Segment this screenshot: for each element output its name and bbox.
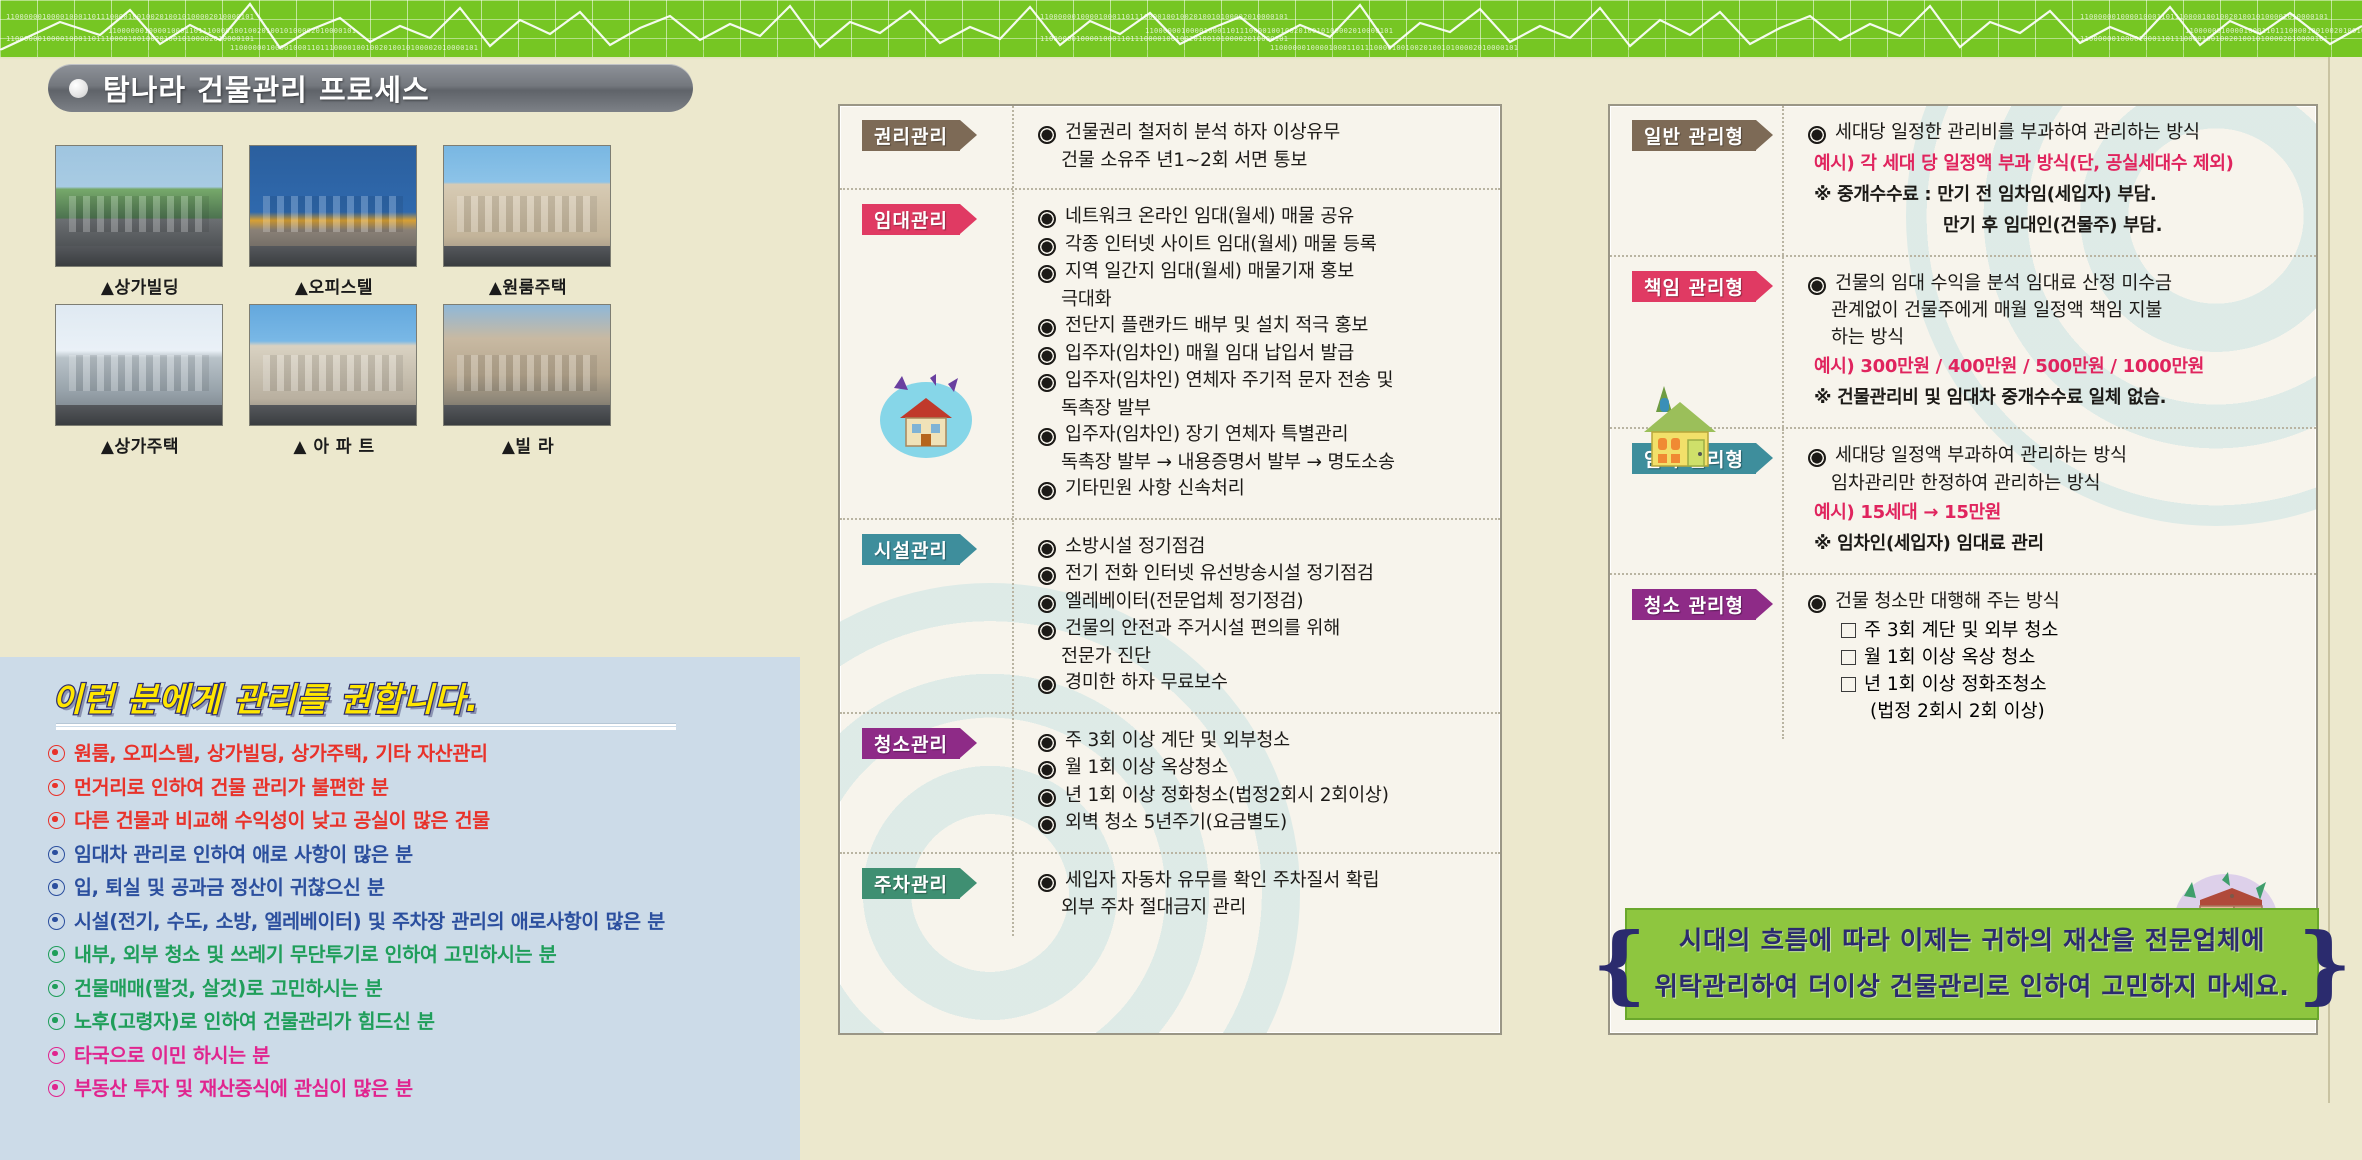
- bullet-line: 건물의 임대 수익을 분석 임대료 산정 미수금: [1808, 271, 2316, 298]
- header-binary-text: 1100000010000100011011100001001002010010…: [2080, 13, 2328, 21]
- bullet-line: 건물 청소만 대행해 주는 방식: [1808, 589, 2316, 616]
- recommendation-item-label: 먼거리로 인하여 건물 관리가 불편한 분: [74, 773, 389, 803]
- process-row: 시설관리소방시설 정기점검전기 전화 인터넷 유선방송시설 정기점검엘레베이터(…: [840, 518, 1500, 712]
- page-title: 탐나라 건물관리 프로세스: [103, 67, 430, 109]
- photo-caption: ▲상가주택: [55, 432, 225, 457]
- bullet-icon: [1038, 734, 1056, 752]
- bullet-line: 건물의 안전과 주거시설 편의를 위해: [1038, 616, 1500, 643]
- header-binary-text: 1100000010000100011011100001001002010010…: [6, 13, 254, 21]
- bullet-icon: [1038, 482, 1056, 500]
- bullet-icon: [48, 946, 65, 963]
- recommendation-item: 노후(고령자)로 인하여 건물관리가 힘드신 분: [48, 1007, 788, 1037]
- bullet-line: 외벽 청소 5년주기(요금별도): [1038, 810, 1500, 837]
- header-binary-text: 1100000010000100011011100001001002010010…: [1145, 27, 1393, 35]
- left-column: 탐나라 건물관리 프로세스 ▲상가빌딩 ▲오피스텔 ▲원룸주택 ▲상가주택: [0, 57, 800, 1103]
- divider: [56, 723, 676, 730]
- bullet-icon: [1038, 816, 1056, 834]
- management-types-card: 일반 관리형세대당 일정한 관리비를 부과하여 관리하는 방식예시) 각 세대 …: [1608, 104, 2318, 1035]
- bullet-line-label: 세대당 일정액 부과하여 관리하는 방식: [1835, 443, 2127, 470]
- process-row: 청소관리주 3회 이상 계단 및 외부청소월 1회 이상 옥상청소년 1회 이상…: [840, 712, 1500, 852]
- example-line: 예시) 각 세대 당 일정액 부과 방식(단, 공실세대수 제외): [1808, 148, 2316, 179]
- photo-caption: ▲오피스텔: [249, 273, 419, 298]
- bullet-line: 엘레베이터(전문업체 정기정검): [1038, 589, 1500, 616]
- bullet-icon: [1808, 595, 1826, 613]
- bullet-icon: [1038, 347, 1056, 365]
- bullet-line: 세대당 일정한 관리비를 부과하여 관리하는 방식: [1808, 120, 2316, 147]
- continuation-line: 건물 소유주 년1~2회 서면 통보: [1038, 148, 1500, 175]
- photo-cell: ▲원룸주택: [443, 145, 613, 298]
- bullet-line-label: 지역 일간지 임대(월세) 매물기재 홍보: [1065, 259, 1354, 286]
- bullet-icon: [1808, 449, 1826, 467]
- row-label-column: 주차관리: [840, 868, 1012, 922]
- bullet-line: 지역 일간지 임대(월세) 매물기재 홍보: [1038, 259, 1500, 286]
- row-label-column: 권리관리: [840, 120, 1012, 174]
- bullet-line-label: 건물 청소만 대행해 주는 방식: [1835, 589, 2060, 616]
- bullet-line-label: 입주자(임차인) 연체자 주기적 문자 전송 및: [1065, 368, 1393, 395]
- recommendation-item-label: 내부, 외부 청소 및 쓰레기 무단투기로 인하여 고민하시는 분: [74, 940, 556, 970]
- recommendation-panel: 이런 분에게 관리를 권합니다. 원룸, 오피스텔, 상가빌딩, 상가주택, 기…: [0, 657, 800, 1160]
- bullet-line: 전단지 플랜카드 배부 및 설치 적극 홍보: [1038, 313, 1500, 340]
- recommendation-item: 원룸, 오피스텔, 상가빌딩, 상가주택, 기타 자산관리: [48, 739, 788, 769]
- bullet-line: 년 1회 이상 정화청소(법정2회시 2회이상): [1038, 783, 1500, 810]
- photo-cell: ▲상가빌딩: [55, 145, 225, 298]
- row-body-column: 건물권리 철저히 분석 하자 이상유무건물 소유주 년1~2회 서면 통보: [1012, 120, 1500, 174]
- checkbox-icon[interactable]: [1841, 623, 1856, 638]
- photo-row: ▲상가주택 ▲ 아 파 트 ▲빌 라: [55, 304, 715, 457]
- bullet-line: 전기 전화 인터넷 유선방송시설 정기점검: [1038, 561, 1500, 588]
- photo-row: ▲상가빌딩 ▲오피스텔 ▲원룸주택: [55, 145, 715, 298]
- bullet-line-label: 세입자 자동차 유무를 확인 주차질서 확립: [1065, 868, 1379, 895]
- photo-studio-house: [443, 145, 611, 267]
- column-divider: [1782, 575, 1784, 739]
- banner-text: 시대의 흐름에 따라 이제는 귀하의 재산을 전문업체에 위탁관리하여 더이상 …: [1646, 918, 2297, 1010]
- house-illustration-icon: [878, 374, 974, 460]
- example-line: 예시) 300만원 / 400만원 / 500만원 / 1000만원: [1808, 351, 2316, 382]
- process-row: 청소 관리형건물 청소만 대행해 주는 방식주 3회 계단 및 외부 청소월 1…: [1610, 573, 2316, 739]
- photo-caption: ▲빌 라: [443, 432, 613, 457]
- column-divider: [1012, 714, 1014, 852]
- recommendation-item-label: 노후(고령자)로 인하여 건물관리가 힘드신 분: [74, 1007, 435, 1037]
- recommendation-item: 부동산 투자 및 재산증식에 관심이 많은 분: [48, 1074, 788, 1104]
- recommendation-item-label: 다른 건물과 비교해 수익성이 낮고 공실이 많은 건물: [74, 806, 490, 836]
- header-binary-text: 1100000010000100011011100001001002010010…: [108, 27, 356, 35]
- recommendation-item: 타국으로 이민 하시는 분: [48, 1041, 788, 1071]
- bullet-line-label: 네트워크 온라인 임대(월세) 매물 공유: [1065, 204, 1354, 231]
- banner-line-1: 시대의 흐름에 따라 이제는 귀하의 재산을 전문업체에: [1654, 918, 2289, 964]
- photo-gallery: ▲상가빌딩 ▲오피스텔 ▲원룸주택 ▲상가주택 ▲ 아 파 트 ▲빌: [55, 145, 715, 463]
- green-house-illustration-icon: [1638, 378, 1722, 470]
- bullet-icon: [48, 1080, 65, 1097]
- bullet-line-label: 소방시설 정기점검: [1065, 534, 1205, 561]
- bullet-line-label: 월 1회 이상 옥상청소: [1065, 755, 1228, 782]
- brace-left: {: [1592, 922, 1646, 1006]
- row-body-column: 네트워크 온라인 임대(월세) 매물 공유각종 인터넷 사이트 임대(월세) 매…: [1012, 204, 1500, 504]
- bullet-line: 네트워크 온라인 임대(월세) 매물 공유: [1038, 204, 1500, 231]
- checkbox-line[interactable]: 주 3회 계단 및 외부 청소: [1808, 617, 2316, 644]
- photo-officetel: [249, 145, 417, 267]
- bullet-icon: [48, 1013, 65, 1030]
- photo-villa: [443, 304, 611, 426]
- category-tag[interactable]: 책임 관리형: [1632, 271, 1756, 302]
- bullet-line: 세입자 자동차 유무를 확인 주차질서 확립: [1038, 868, 1500, 895]
- checkbox-line-label: 년 1회 이상 정화조청소: [1864, 671, 2047, 698]
- bullet-line: 세대당 일정액 부과하여 관리하는 방식: [1808, 443, 2316, 470]
- photo-commercial-building: [55, 145, 223, 267]
- bullet-icon: [48, 812, 65, 829]
- photo-caption: ▲원룸주택: [443, 273, 613, 298]
- row-label-column: 청소관리: [840, 728, 1012, 838]
- bullet-line-label: 입주자(임차인) 장기 연체자 특별관리: [1065, 422, 1348, 449]
- bullet-line: 주 3회 이상 계단 및 외부청소: [1038, 728, 1500, 755]
- row-body-column: 건물 청소만 대행해 주는 방식주 3회 계단 및 외부 청소월 1회 이상 옥…: [1782, 589, 2316, 725]
- bullet-icon: [48, 879, 65, 896]
- column-divider: [1782, 429, 1784, 573]
- continuation-line: 극대화: [1038, 287, 1500, 314]
- process-row: 일반 관리형세대당 일정한 관리비를 부과하여 관리하는 방식예시) 각 세대 …: [1610, 106, 2316, 255]
- recommendation-item-label: 타국으로 이민 하시는 분: [74, 1041, 270, 1071]
- header-binary-text: 1100000010000100011011100001001002010010…: [1040, 13, 1288, 21]
- section-title-pill: 탐나라 건물관리 프로세스: [48, 64, 693, 112]
- note-line: 만기 후 임대인(건물주) 부담.: [1808, 210, 2316, 241]
- recommendation-item: 건물매매(팔것, 살것)로 고민하시는 분: [48, 974, 788, 1004]
- header-binary-text: 1100000010000100011011100001001002010010…: [2185, 27, 2362, 35]
- process-row: 권리관리건물권리 철저히 분석 하자 이상유무건물 소유주 년1~2회 서면 통…: [840, 106, 1500, 188]
- column-divider: [1012, 190, 1014, 518]
- checkbox-line[interactable]: (법정 2회시 2회 이상): [1808, 698, 2316, 725]
- bullet-line-label: 전단지 플랜카드 배부 및 설치 적극 홍보: [1065, 313, 1368, 340]
- row-body-column: 세입자 자동차 유무를 확인 주차질서 확립외부 주차 절대금지 관리: [1012, 868, 1500, 922]
- bullet-line: 소방시설 정기점검: [1038, 534, 1500, 561]
- process-rows: 권리관리건물권리 철저히 분석 하자 이상유무건물 소유주 년1~2회 서면 통…: [840, 106, 1500, 936]
- bullet-icon: [1038, 761, 1056, 779]
- column-divider: [1012, 854, 1014, 936]
- bullet-icon: [1038, 126, 1056, 144]
- note-line: ※ 중개수수료 : 만기 전 임차임(세입자) 부담.: [1808, 179, 2316, 210]
- checkbox-icon[interactable]: [1841, 650, 1856, 665]
- category-tag[interactable]: 주차관리: [862, 868, 960, 899]
- recommendation-item-label: 입, 퇴실 및 공과금 정산이 귀찮으신 분: [74, 873, 385, 903]
- bullet-icon: [1038, 595, 1056, 613]
- bullet-line: 기타민원 사항 신속처리: [1038, 476, 1500, 503]
- header-binary-text: 1100000010000100011011100001001002010010…: [6, 35, 254, 43]
- row-body-column: 건물의 임대 수익을 분석 임대료 산정 미수금관계없이 건물주에게 매월 일정…: [1782, 271, 2316, 414]
- bullet-icon: [1038, 676, 1056, 694]
- checkbox-line-label: 월 1회 이상 옥상 청소: [1864, 644, 2035, 671]
- bullet-icon: [1038, 874, 1056, 892]
- bullet-icon: [48, 980, 65, 997]
- checkbox-line[interactable]: 년 1회 이상 정화조청소: [1808, 671, 2316, 698]
- continuation-line: 전문가 진단: [1038, 644, 1500, 671]
- recommendation-item-label: 건물매매(팔것, 살것)로 고민하시는 분: [74, 974, 382, 1004]
- recommendation-item-label: 임대차 관리로 인하여 애로 사항이 많은 분: [74, 840, 413, 870]
- checkbox-line-label: 주 3회 계단 및 외부 청소: [1864, 617, 2058, 644]
- bullet-line-label: 외벽 청소 5년주기(요금별도): [1065, 810, 1287, 837]
- category-tag[interactable]: 청소 관리형: [1632, 589, 1756, 620]
- row-label-column: 청소 관리형: [1610, 589, 1782, 725]
- checkbox-line[interactable]: 월 1회 이상 옥상 청소: [1808, 644, 2316, 671]
- bullet-line-label: 건물권리 철저히 분석 하자 이상유무: [1065, 120, 1340, 147]
- column-divider: [1012, 520, 1014, 712]
- row-body-column: 세대당 일정액 부과하여 관리하는 방식임차관리만 한정하여 관리하는 방식예시…: [1782, 443, 2316, 559]
- bullet-line: 건물권리 철저히 분석 하자 이상유무: [1038, 120, 1500, 147]
- row-body-column: 세대당 일정한 관리비를 부과하여 관리하는 방식예시) 각 세대 당 일정액 …: [1782, 120, 2316, 241]
- recommendation-item-label: 시설(전기, 수도, 소방, 엘레베이터) 및 주차장 관리의 애로사항이 많은…: [74, 907, 665, 937]
- bullet-icon: [48, 745, 65, 762]
- checkbox-icon[interactable]: [1841, 677, 1856, 692]
- process-row: 임대관리네트워크 온라인 임대(월세) 매물 공유각종 인터넷 사이트 임대(월…: [840, 188, 1500, 518]
- photo-caption: ▲상가빌딩: [55, 273, 225, 298]
- bullet-icon: [1038, 265, 1056, 283]
- bullet-line-label: 전기 전화 인터넷 유선방송시설 정기점검: [1065, 561, 1374, 588]
- photo-cell: ▲ 아 파 트: [249, 304, 419, 457]
- bullet-line: 각종 인터넷 사이트 임대(월세) 매물 등록: [1038, 232, 1500, 259]
- recommendation-item: 내부, 외부 청소 및 쓰레기 무단투기로 인하여 고민하시는 분: [48, 940, 788, 970]
- recommendation-item: 시설(전기, 수도, 소방, 엘레베이터) 및 주차장 관리의 애로사항이 많은…: [48, 907, 788, 937]
- recommendation-list: 원룸, 오피스텔, 상가빌딩, 상가주택, 기타 자산관리먼거리로 인하여 건물…: [48, 739, 788, 1108]
- process-row: 주차관리세입자 자동차 유무를 확인 주차질서 확립외부 주차 절대금지 관리: [840, 852, 1500, 936]
- banner-line-2: 위탁관리하여 더이상 건물관리로 인하여 고민하지 마세요.: [1654, 964, 2289, 1010]
- header-band: 1100000010000100011011100001001002010010…: [0, 0, 2362, 57]
- recommendation-headline: 이런 분에게 관리를 권합니다.: [52, 673, 479, 721]
- row-label-column: 일반 관리형: [1610, 120, 1782, 241]
- row-label-column: 시설관리: [840, 534, 1012, 698]
- bullet-icon: [1038, 374, 1056, 392]
- bullet-line-label: 년 1회 이상 정화청소(법정2회시 2회이상): [1065, 783, 1389, 810]
- bullet-icon: [1808, 126, 1826, 144]
- category-tag[interactable]: 일반 관리형: [1632, 120, 1756, 151]
- bullet-line: 입주자(임차인) 장기 연체자 특별관리: [1038, 422, 1500, 449]
- bullet-icon: [48, 1047, 65, 1064]
- checkbox-line-label: (법정 2회시 2회 이상): [1870, 698, 2045, 725]
- bullet-line-label: 건물의 임대 수익을 분석 임대료 산정 미수금: [1835, 271, 2172, 298]
- bullet-line-label: 각종 인터넷 사이트 임대(월세) 매물 등록: [1065, 232, 1377, 259]
- continuation-line: 외부 주차 절대금지 관리: [1038, 895, 1500, 922]
- bullet-dot-icon: [69, 79, 88, 98]
- bullet-icon: [1038, 210, 1056, 228]
- bullet-icon: [1038, 428, 1056, 446]
- photo-caption: ▲ 아 파 트: [249, 432, 419, 457]
- bullet-icon: [1038, 622, 1056, 640]
- bullet-line: 입주자(임차인) 연체자 주기적 문자 전송 및: [1038, 368, 1500, 395]
- continuation-line: 독촉장 발부: [1038, 396, 1500, 423]
- category-tag[interactable]: 권리관리: [862, 120, 960, 151]
- bullet-line-label: 기타민원 사항 신속처리: [1065, 476, 1245, 503]
- bullet-icon: [1038, 319, 1056, 337]
- note-line: ※ 임차인(세입자) 임대료 관리: [1808, 528, 2316, 559]
- closing-banner: { 시대의 흐름에 따라 이제는 귀하의 재산을 전문업체에 위탁관리하여 더이…: [1625, 908, 2319, 1020]
- bullet-icon: [1038, 238, 1056, 256]
- example-line: 예시) 15세대 → 15만원: [1808, 497, 2316, 528]
- category-tag[interactable]: 임대관리: [862, 204, 960, 235]
- photo-cell: ▲상가주택: [55, 304, 225, 457]
- row-body-column: 주 3회 이상 계단 및 외부청소월 1회 이상 옥상청소년 1회 이상 정화청…: [1012, 728, 1500, 838]
- process-card: 권리관리건물권리 철저히 분석 하자 이상유무건물 소유주 년1~2회 서면 통…: [838, 104, 1502, 1035]
- bullet-icon: [1038, 789, 1056, 807]
- column-divider: [1782, 257, 1784, 428]
- photo-apartment: [249, 304, 417, 426]
- category-tag[interactable]: 시설관리: [862, 534, 960, 565]
- column-divider: [1782, 106, 1784, 255]
- header-binary-text: 1100000010000100011011100001001002010010…: [2080, 35, 2328, 43]
- bullet-icon: [48, 913, 65, 930]
- brace-right: }: [2298, 922, 2352, 1006]
- bullet-icon: [48, 846, 65, 863]
- continuation-line: 하는 방식: [1808, 325, 2316, 352]
- recommendation-item: 임대차 관리로 인하여 애로 사항이 많은 분: [48, 840, 788, 870]
- header-binary-text: 1100000010000100011011100001001002010010…: [1040, 35, 1288, 43]
- continuation-line: 임차관리만 한정하여 관리하는 방식: [1808, 471, 2316, 498]
- bullet-line-label: 경미한 하자 무료보수: [1065, 670, 1228, 697]
- photo-shop-house: [55, 304, 223, 426]
- bullet-line: 입주자(임차인) 매월 임대 납입서 발급: [1038, 341, 1500, 368]
- bullet-line-label: 세대당 일정한 관리비를 부과하여 관리하는 방식: [1835, 120, 2200, 147]
- recommendation-item-label: 부동산 투자 및 재산증식에 관심이 많은 분: [74, 1074, 413, 1104]
- column-divider: [1012, 106, 1014, 188]
- recommendation-item: 입, 퇴실 및 공과금 정산이 귀찮으신 분: [48, 873, 788, 903]
- recommendation-item-label: 원룸, 오피스텔, 상가빌딩, 상가주택, 기타 자산관리: [74, 739, 488, 769]
- recommendation-item: 다른 건물과 비교해 수익성이 낮고 공실이 많은 건물: [48, 806, 788, 836]
- note-line: ※ 건물관리비 및 임대차 중개수수료 일체 없슴.: [1808, 382, 2316, 413]
- row-body-column: 소방시설 정기점검전기 전화 인터넷 유선방송시설 정기점검엘레베이터(전문업체…: [1012, 534, 1500, 698]
- bullet-line-label: 건물의 안전과 주거시설 편의를 위해: [1065, 616, 1340, 643]
- bullet-icon: [1038, 567, 1056, 585]
- recommendation-item: 먼거리로 인하여 건물 관리가 불편한 분: [48, 773, 788, 803]
- bullet-icon: [48, 779, 65, 796]
- bullet-line-label: 입주자(임차인) 매월 임대 납입서 발급: [1065, 341, 1354, 368]
- bullet-line-label: 엘레베이터(전문업체 정기정검): [1065, 589, 1303, 616]
- photo-cell: ▲오피스텔: [249, 145, 419, 298]
- category-tag[interactable]: 청소관리: [862, 728, 960, 759]
- bullet-line-label: 주 3회 이상 계단 및 외부청소: [1065, 728, 1290, 755]
- photo-cell: ▲빌 라: [443, 304, 613, 457]
- bullet-icon: [1808, 277, 1826, 295]
- bullet-line: 경미한 하자 무료보수: [1038, 670, 1500, 697]
- bullet-icon: [1038, 540, 1056, 558]
- continuation-line: 관계없이 건물주에게 매월 일정액 책임 지불: [1808, 298, 2316, 325]
- continuation-line: 독촉장 발부 → 내용증명서 발부 → 명도소송: [1038, 450, 1500, 477]
- bullet-line: 월 1회 이상 옥상청소: [1038, 755, 1500, 782]
